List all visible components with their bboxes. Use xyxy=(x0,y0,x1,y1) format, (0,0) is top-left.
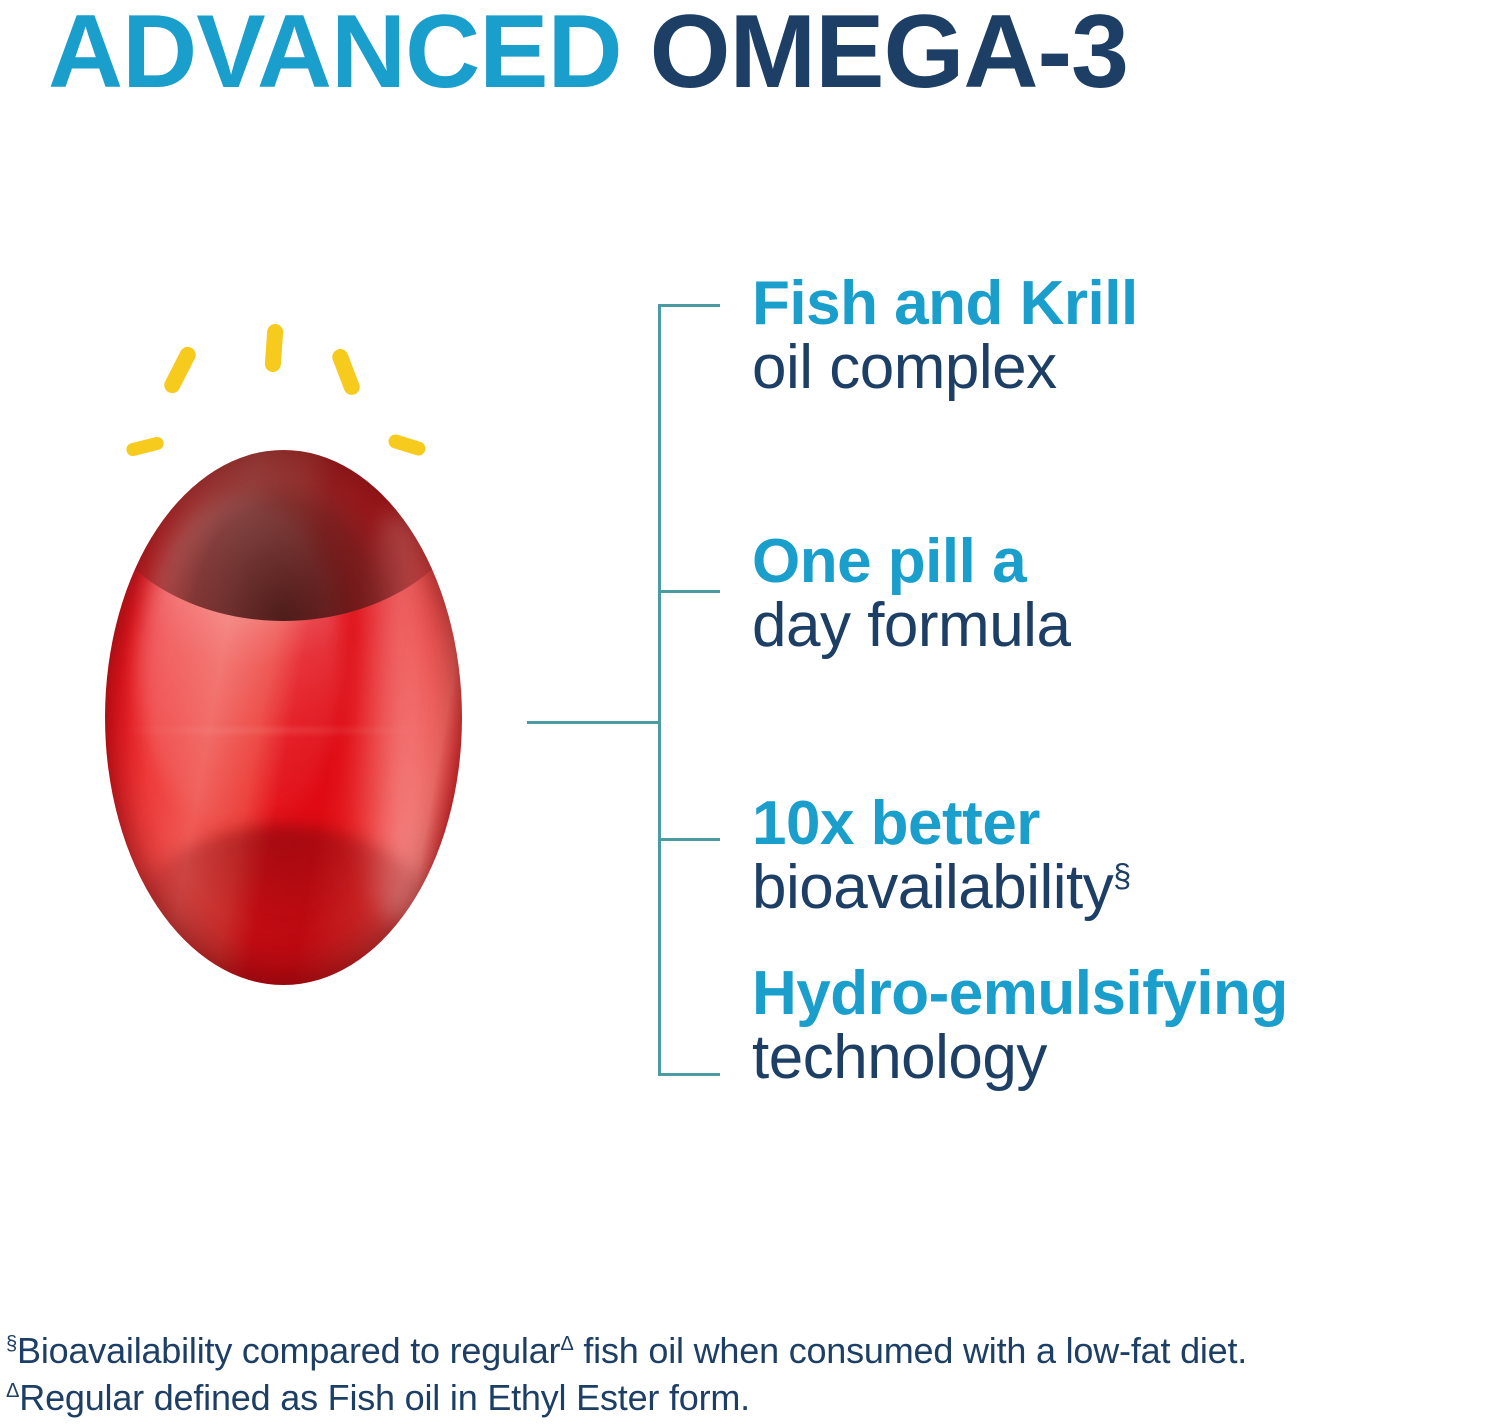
connector-branch-3 xyxy=(658,838,720,841)
page-title: ADVANCED OMEGA-3 xyxy=(48,0,1128,110)
sparkle-icon-right-outer xyxy=(387,433,427,457)
footnote-2-marker: Δ xyxy=(6,1380,19,1402)
footnote-1: §Bioavailability compared to regularΔ fi… xyxy=(6,1328,1500,1375)
feature-callout-4: Hydro-emulsifying technology xyxy=(752,962,1288,1091)
feature-callout-3: 10x better bioavailability§ xyxy=(752,792,1131,921)
footnote-2: ΔRegular defined as Fish oil in Ethyl Es… xyxy=(6,1375,1500,1422)
footnotes-block: §Bioavailability compared to regularΔ fi… xyxy=(6,1328,1500,1422)
capsule-highlight-left xyxy=(137,498,344,830)
infographic-canvas: ADVANCED OMEGA-3 Fish and Krill oil comp… xyxy=(0,0,1500,1425)
feature-2-headline: One pill a xyxy=(752,530,1070,593)
sparkle-icon-left-outer xyxy=(125,436,165,458)
capsule-bottom-shadow xyxy=(119,825,447,986)
feature-2-subline: day formula xyxy=(752,593,1070,659)
footnote-2-text-before: Regular defined as Fish oil in Ethyl Est… xyxy=(19,1377,750,1418)
footnote-1-text-before: Bioavailability compared to regular xyxy=(17,1330,560,1371)
connector-branch-2 xyxy=(658,590,720,593)
feature-callout-1: Fish and Krill oil complex xyxy=(752,272,1138,401)
feature-4-subline: technology xyxy=(752,1025,1288,1091)
connector-branch-1 xyxy=(658,304,720,307)
page-title-part-advanced: ADVANCED xyxy=(48,0,622,110)
capsule-top-rim xyxy=(105,450,462,621)
feature-callout-2: One pill a day formula xyxy=(752,530,1070,659)
feature-1-headline: Fish and Krill xyxy=(752,272,1138,335)
footnote-1-text-after: fish oil when consumed with a low-fat di… xyxy=(574,1330,1248,1371)
footnote-1-marker: § xyxy=(6,1333,17,1355)
sparkle-icon-right-mid xyxy=(330,347,362,398)
feature-3-headline: 10x better xyxy=(752,792,1131,855)
product-image-softgel xyxy=(70,300,510,1010)
feature-3-subline: bioavailability§ xyxy=(752,855,1131,921)
feature-3-subline-text: bioavailability xyxy=(752,853,1113,922)
page-title-part-omega: OMEGA-3 xyxy=(650,0,1128,110)
feature-1-subline: oil complex xyxy=(752,335,1138,401)
feature-3-footnote-marker: § xyxy=(1113,858,1130,894)
softgel-capsule-body xyxy=(105,450,462,985)
connector-spine xyxy=(658,304,661,1076)
feature-4-headline: Hydro-emulsifying xyxy=(752,962,1288,1025)
connector-branch-4 xyxy=(658,1073,720,1076)
connector-branch-to-capsule xyxy=(527,721,661,724)
footnote-1-inline-marker: Δ xyxy=(560,1333,573,1355)
sparkle-icon-center xyxy=(264,324,283,373)
capsule-seam xyxy=(119,728,447,733)
capsule-highlight-right xyxy=(348,514,441,921)
sparkle-icon-left-mid xyxy=(162,344,199,396)
